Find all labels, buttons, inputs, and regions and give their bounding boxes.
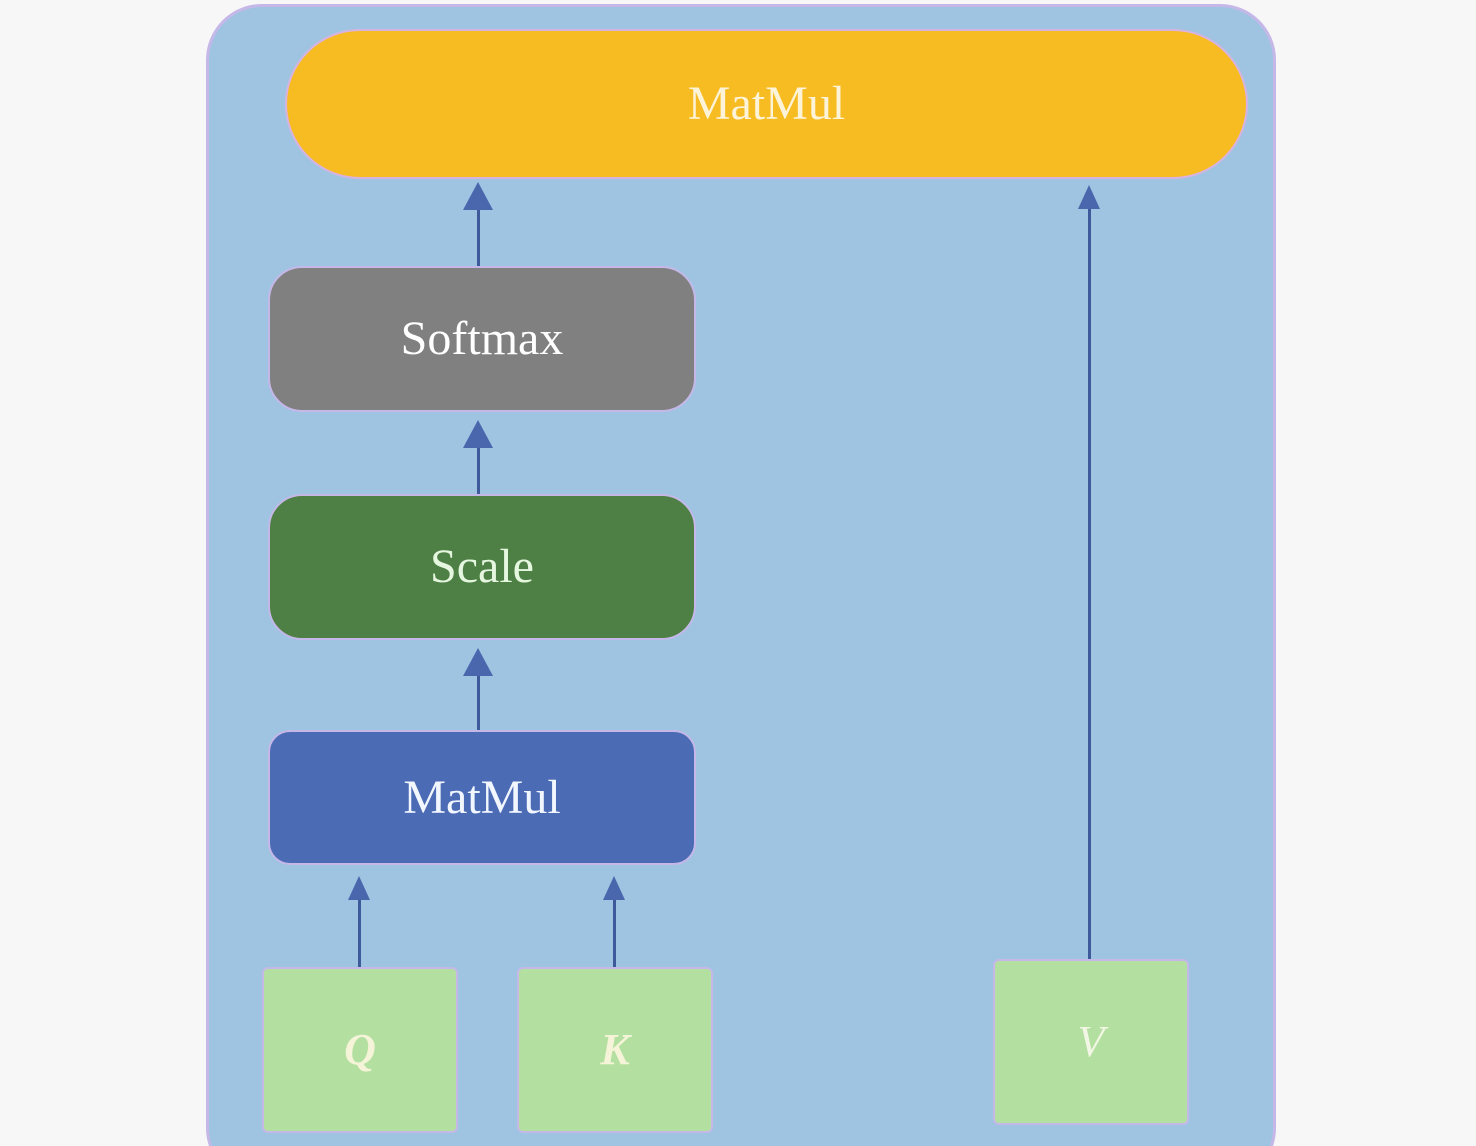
edge-softmax-to-matmul-top-stem: [477, 208, 480, 268]
diagram-canvas: MatMul Softmax Scale MatMul Q K V: [0, 0, 1476, 1146]
edge-v-to-matmul-top-head: [1078, 185, 1100, 209]
edge-matmul-bottom-to-scale-stem: [477, 676, 480, 734]
node-matmul-bottom[interactable]: MatMul: [268, 730, 696, 865]
node-scale[interactable]: Scale: [268, 494, 696, 640]
edge-scale-to-softmax-head: [463, 420, 493, 448]
node-matmul-top[interactable]: MatMul: [285, 29, 1248, 179]
edge-k-to-matmul-bottom-head: [603, 876, 625, 900]
edge-q-to-matmul-bottom-stem: [358, 900, 361, 970]
edge-scale-to-softmax-stem: [477, 448, 480, 498]
edge-softmax-to-matmul-top-head: [463, 182, 493, 210]
node-softmax[interactable]: Softmax: [268, 266, 696, 412]
node-input-k[interactable]: K: [517, 967, 713, 1133]
edge-matmul-bottom-to-scale-head: [463, 648, 493, 676]
edge-k-to-matmul-bottom-stem: [613, 900, 616, 970]
node-input-v[interactable]: V: [993, 959, 1189, 1125]
edge-q-to-matmul-bottom-head: [348, 876, 370, 900]
edge-v-to-matmul-top-stem: [1088, 205, 1091, 960]
node-input-q[interactable]: Q: [262, 967, 458, 1133]
